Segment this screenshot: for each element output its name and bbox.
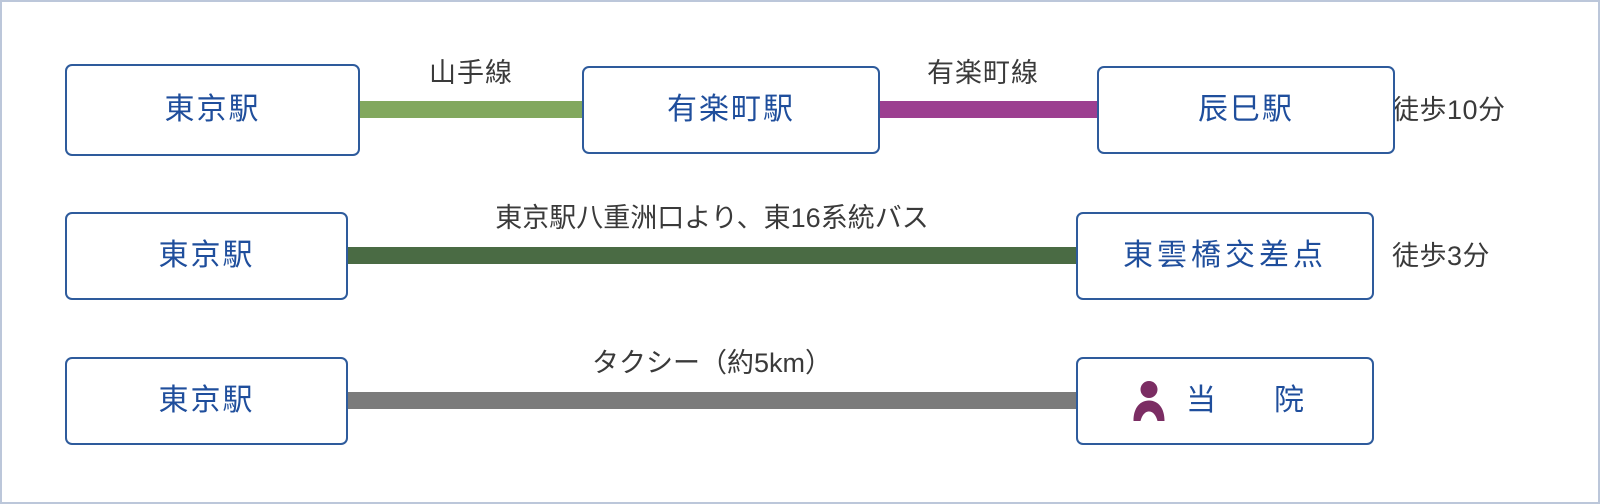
caption-bus: 東京駅八重洲口より、東16系統バス xyxy=(348,205,1076,232)
person-icon xyxy=(1132,380,1166,422)
node-label: 東京駅 xyxy=(159,241,255,271)
note-walk-time-bus: 徒歩3分 xyxy=(1392,243,1490,270)
node-tatsumi-station[interactable]: 辰巳駅 xyxy=(1097,66,1395,154)
caption-yurakucho: 有楽町線 xyxy=(860,60,1106,87)
link-taxi xyxy=(342,392,1082,409)
node-label: 辰巳駅 xyxy=(1198,95,1294,125)
caption-yamanote: 山手線 xyxy=(354,60,588,87)
node-yurakucho-station[interactable]: 有楽町駅 xyxy=(582,66,880,154)
node-label: 当 院 xyxy=(1172,386,1318,416)
node-label: 東雲橋交差点 xyxy=(1123,241,1327,271)
node-clinic[interactable]: 当 院 xyxy=(1076,357,1374,445)
node-shinonomebashi-crossing[interactable]: 東雲橋交差点 xyxy=(1076,212,1374,300)
link-yamanote xyxy=(354,101,588,118)
node-label: 東京駅 xyxy=(165,95,261,125)
link-yurakucho xyxy=(868,101,1101,118)
node-label: 有楽町駅 xyxy=(667,95,795,125)
node-tokyo-station-bus[interactable]: 東京駅 xyxy=(65,212,348,300)
node-tokyo-station-train[interactable]: 東京駅 xyxy=(65,64,360,156)
caption-taxi: タクシー（約5km） xyxy=(348,350,1076,377)
note-walk-time-train: 徒歩10分 xyxy=(1392,97,1506,124)
link-bus xyxy=(342,247,1082,264)
node-tokyo-station-taxi[interactable]: 東京駅 xyxy=(65,357,348,445)
access-route-diagram: 東京駅 有楽町駅 辰巳駅 山手線 有楽町線 徒歩10分 東京駅 東雲橋交差点 東… xyxy=(0,0,1600,504)
node-label: 東京駅 xyxy=(159,386,255,416)
